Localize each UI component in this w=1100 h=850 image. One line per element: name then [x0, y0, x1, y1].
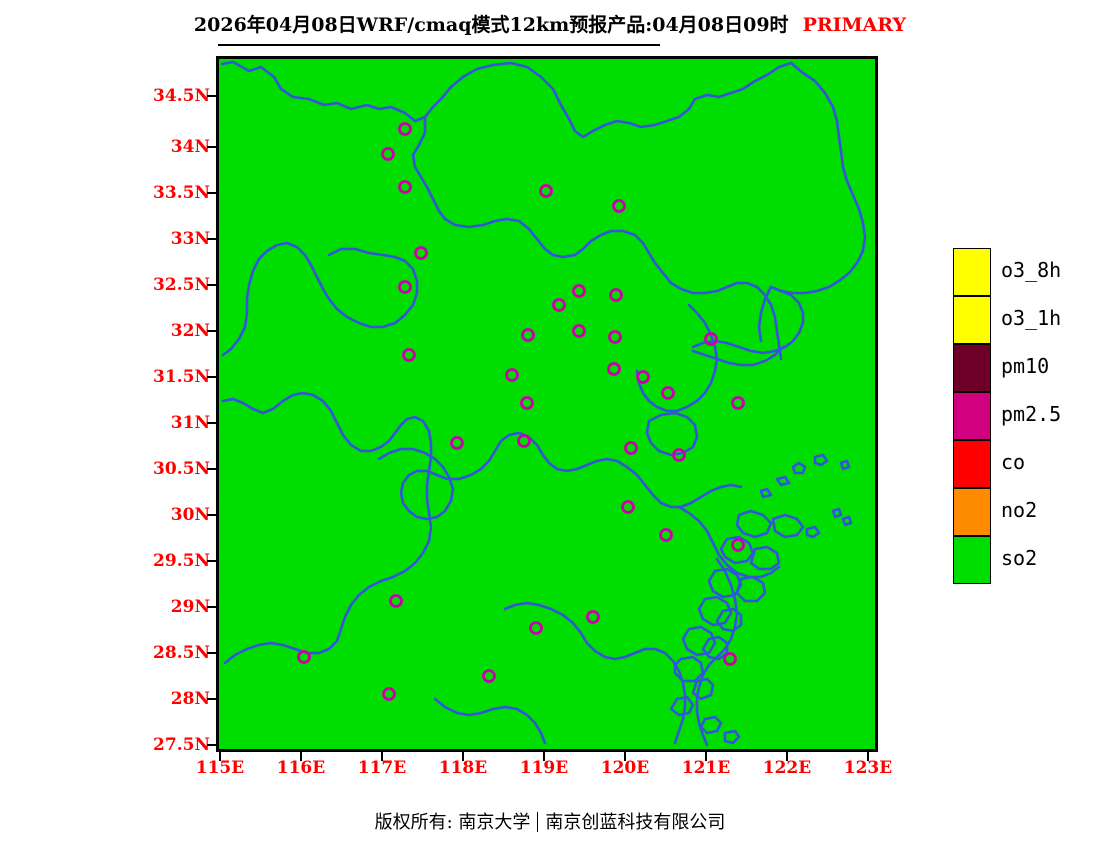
footer-left-text: 版权所有: 南京大学 — [375, 812, 531, 833]
y-tick-label: 30.5N — [130, 459, 210, 479]
legend-label-no2: no2 — [1001, 498, 1037, 522]
x-tick-label: 120E — [585, 758, 665, 778]
x-tick-mark — [624, 752, 626, 761]
title-primary-tag: PRIMARY — [803, 14, 907, 36]
footer-right-text: 南京创蓝科技有限公司 — [545, 812, 725, 833]
x-tick-label: 122E — [747, 758, 827, 778]
y-tick-mark — [207, 698, 216, 700]
y-tick-mark — [207, 192, 216, 194]
y-tick-label: 31N — [130, 413, 210, 433]
y-tick-label: 28N — [130, 689, 210, 709]
legend-swatch-o3-8h — [953, 248, 991, 296]
legend-label-o3-8h: o3_8h — [1001, 258, 1061, 282]
x-tick-mark — [543, 752, 545, 761]
x-tick-mark — [867, 752, 869, 761]
forecast-map[interactable] — [216, 56, 878, 752]
title-main-text: 2026年04月08日WRF/cmaq模式12km预报产品:04月08日09时 — [194, 14, 789, 36]
y-tick-mark — [207, 376, 216, 378]
y-tick-label: 29N — [130, 597, 210, 617]
y-tick-mark — [207, 652, 216, 654]
y-tick-label: 28.5N — [130, 643, 210, 663]
y-tick-mark — [207, 744, 216, 746]
y-tick-label: 33N — [130, 229, 210, 249]
y-tick-label: 33.5N — [130, 183, 210, 203]
x-tick-mark — [462, 752, 464, 761]
y-tick-label: 27.5N — [130, 735, 210, 755]
y-tick-label: 32N — [130, 321, 210, 341]
y-tick-label: 32.5N — [130, 275, 210, 295]
x-tick-label: 116E — [261, 758, 341, 778]
x-tick-label: 119E — [504, 758, 584, 778]
y-tick-mark — [207, 284, 216, 286]
legend-swatch-pm25 — [953, 392, 991, 440]
y-tick-label: 34.5N — [130, 86, 210, 106]
legend-swatch-o3-1h — [953, 296, 991, 344]
y-tick-mark — [207, 606, 216, 608]
y-tick-label: 29.5N — [130, 551, 210, 571]
y-tick-mark — [207, 560, 216, 562]
x-tick-mark — [300, 752, 302, 761]
x-tick-mark — [705, 752, 707, 761]
legend-label-co: co — [1001, 450, 1025, 474]
x-tick-mark — [786, 752, 788, 761]
x-tick-label: 121E — [666, 758, 746, 778]
y-tick-mark — [207, 422, 216, 424]
y-tick-mark — [207, 238, 216, 240]
x-tick-mark — [219, 752, 221, 761]
copyright-footer: 版权所有: 南京大学南京创蓝科技有限公司 — [0, 808, 1100, 834]
y-tick-label: 34N — [130, 137, 210, 157]
legend-label-pm25: pm2.5 — [1001, 402, 1061, 426]
y-tick-mark — [207, 146, 216, 148]
legend-swatch-co — [953, 440, 991, 488]
x-tick-label: 123E — [828, 758, 908, 778]
page-title: 2026年04月08日WRF/cmaq模式12km预报产品:04月08日09时P… — [0, 10, 1100, 37]
legend-label-so2: so2 — [1001, 546, 1037, 570]
y-tick-label: 31.5N — [130, 367, 210, 387]
legend-swatch-so2 — [953, 536, 991, 584]
title-underline — [218, 44, 660, 46]
y-tick-mark — [207, 514, 216, 516]
x-tick-label: 118E — [423, 758, 503, 778]
y-tick-mark — [207, 468, 216, 470]
legend-label-o3-1h: o3_1h — [1001, 306, 1061, 330]
y-tick-label: 30N — [130, 505, 210, 525]
map-canvas — [219, 59, 875, 749]
legend-swatch-pm10 — [953, 344, 991, 392]
x-tick-label: 115E — [180, 758, 260, 778]
y-tick-mark — [207, 95, 216, 97]
legend-swatch-no2 — [953, 488, 991, 536]
map-background — [219, 59, 875, 749]
x-tick-mark — [381, 752, 383, 761]
legend-label-pm10: pm10 — [1001, 354, 1049, 378]
y-tick-mark — [207, 330, 216, 332]
x-tick-label: 117E — [342, 758, 422, 778]
footer-separator — [537, 812, 538, 832]
